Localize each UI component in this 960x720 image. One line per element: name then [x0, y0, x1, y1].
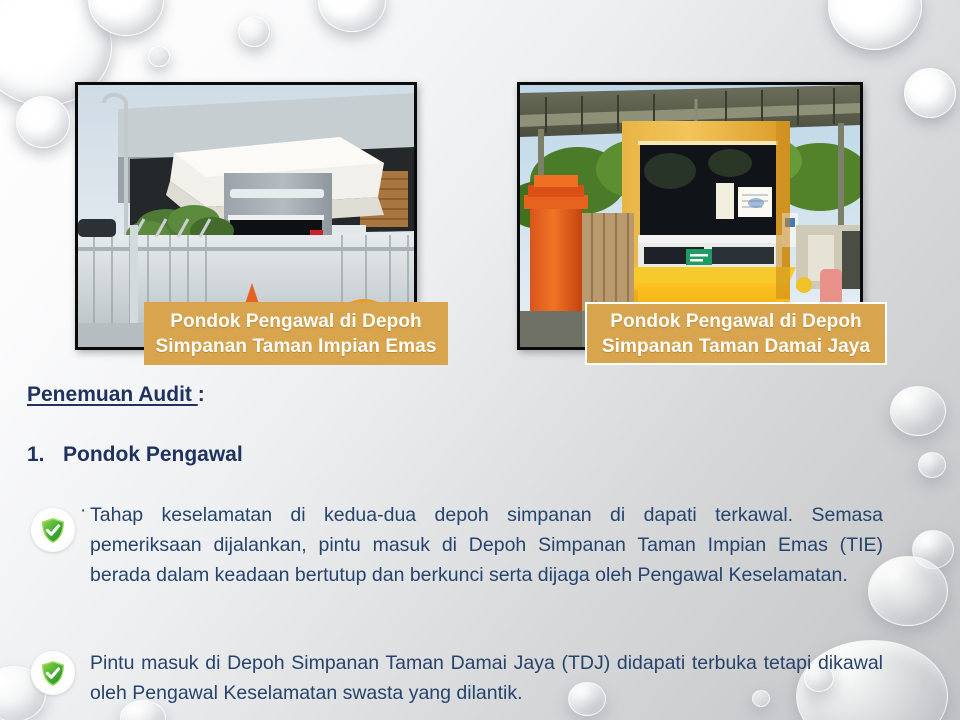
shield-check-glyph	[40, 517, 66, 544]
decorative-bubble-topright-a	[828, 0, 922, 50]
decorative-bubble-right-small	[918, 452, 946, 478]
decorative-bubble-topleft-small	[148, 46, 170, 67]
caption-text-right: Pondok Pengawal di Depoh Simpanan Taman …	[595, 309, 877, 359]
decorative-bubble-topleft-c	[16, 96, 70, 148]
decorative-bubble-topright-b	[904, 68, 956, 118]
decorative-bubble-topcenter	[318, 0, 386, 32]
presentation-slide: Pondok Pengawal di Depoh Simpanan Taman …	[0, 0, 960, 720]
list-title: Pondok Pengawal	[63, 443, 243, 466]
caption-taman-damai-jaya: Pondok Pengawal di Depoh Simpanan Taman …	[585, 302, 887, 365]
decorative-bubble-bottomright-a	[912, 530, 954, 569]
caption-taman-impian-emas: Pondok Pengawal di Depoh Simpanan Taman …	[144, 302, 448, 365]
bullet-dash-marker-1: ·	[80, 500, 86, 522]
shield-check-glyph	[40, 660, 66, 687]
page-heading: Penemuan Audit :	[27, 383, 205, 407]
bullet-paragraph-2: Pintu masuk di Depoh Simpanan Taman Dama…	[90, 648, 883, 708]
decorative-bubble-topleft-b	[88, 0, 164, 36]
caption-text-left: Pondok Pengawal di Depoh Simpanan Taman …	[152, 309, 440, 359]
list-number: 1.	[27, 443, 63, 467]
heading-underlined-text: Penemuan Audit	[27, 383, 198, 406]
bullet-paragraph-1: Tahap keselamatan di kedua-dua depoh sim…	[90, 500, 883, 590]
decorative-bubble-rightmid	[890, 386, 946, 436]
green-shield-check-icon	[31, 651, 75, 695]
green-shield-check-icon	[31, 508, 75, 552]
heading-colon: :	[198, 383, 205, 406]
decorative-bubble-topmid	[238, 16, 270, 47]
numbered-list-item-1: 1.Pondok Pengawal	[27, 443, 243, 467]
